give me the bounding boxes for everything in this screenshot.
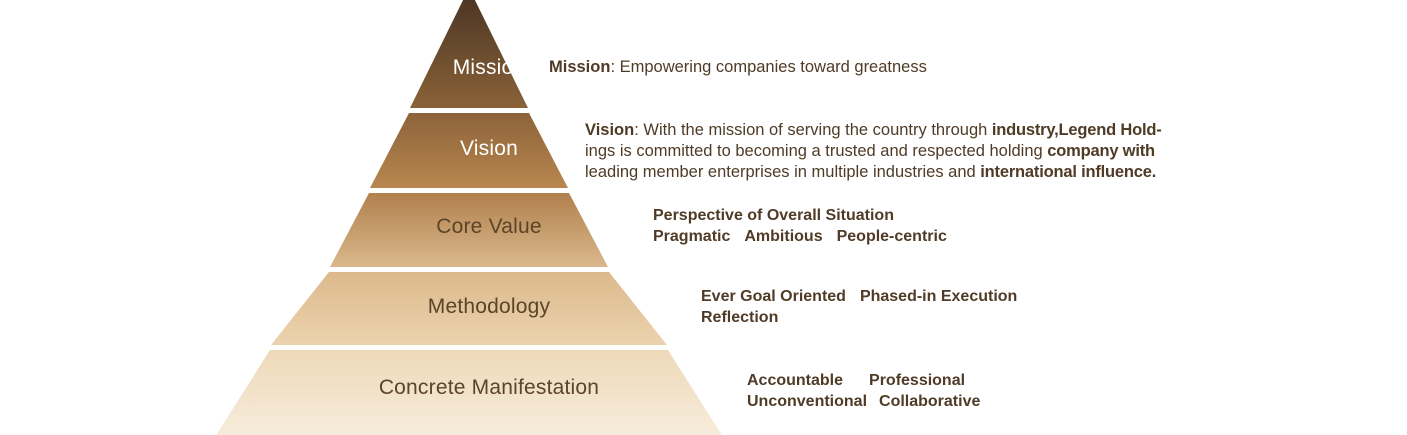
annotation-methodology: Ever Goal OrientedPhased-in Execution Re… bbox=[701, 287, 1017, 329]
annotation-core-value-pragmatic: Pragmatic bbox=[653, 228, 730, 245]
annotation-mission-body: Empowering companies toward greatness bbox=[620, 58, 927, 76]
annotation-vision-separator: : bbox=[634, 121, 643, 139]
annotation-core-value: Perspective of Overall Situation Pragmat… bbox=[653, 206, 947, 248]
annotation-core-value-ambitious: Ambitious bbox=[744, 228, 822, 245]
pyramid-tier-mission bbox=[410, 0, 528, 108]
pyramid-diagram: Mission Vision Core Value Methodology Co… bbox=[0, 0, 1407, 435]
annotation-vision-line2: ings is committed to becoming a trusted … bbox=[585, 142, 1047, 160]
annotation-concrete-accountable: Accountable bbox=[747, 372, 843, 389]
annotation-vision-line3: leading member enterprises in multiple i… bbox=[585, 163, 980, 181]
annotation-core-value-line1: Perspective of Overall Situation bbox=[653, 207, 894, 224]
annotation-vision: Vision: With the mission of serving the … bbox=[585, 120, 1185, 183]
annotation-methodology-reflection: Reflection bbox=[701, 309, 778, 326]
annotation-concrete-unconventional: Unconventional bbox=[747, 393, 867, 410]
pyramid-tier-label-concrete-manifestation: Concrete Manifestation bbox=[309, 376, 669, 400]
annotation-mission-lead: Mission bbox=[549, 58, 610, 76]
annotation-vision-line3-tail: international influence. bbox=[980, 163, 1156, 181]
annotation-mission-separator: : bbox=[610, 58, 619, 76]
pyramid-tier-label-methodology: Methodology bbox=[359, 295, 619, 319]
annotation-vision-line1-tail: industry,Legend Hold- bbox=[992, 121, 1162, 139]
annotation-vision-line1: With the mission of serving the country … bbox=[643, 121, 992, 139]
annotation-concrete-manifestation: AccountableProfessional UnconventionalCo… bbox=[747, 371, 980, 413]
annotation-core-value-people-centric: People-centric bbox=[837, 228, 947, 245]
annotation-methodology-phased-in-execution: Phased-in Execution bbox=[860, 288, 1017, 305]
pyramid-tier-label-vision: Vision bbox=[389, 137, 589, 161]
annotation-vision-line2-tail: company with bbox=[1047, 142, 1155, 160]
pyramid-tier-label-core-value: Core Value bbox=[369, 215, 609, 239]
annotation-concrete-professional: Professional bbox=[869, 372, 965, 389]
annotation-methodology-ever-goal-oriented: Ever Goal Oriented bbox=[701, 288, 846, 305]
annotation-mission: Mission: Empowering companies toward gre… bbox=[549, 57, 927, 78]
annotation-concrete-collaborative: Collaborative bbox=[879, 393, 980, 410]
annotation-vision-lead: Vision bbox=[585, 121, 634, 139]
